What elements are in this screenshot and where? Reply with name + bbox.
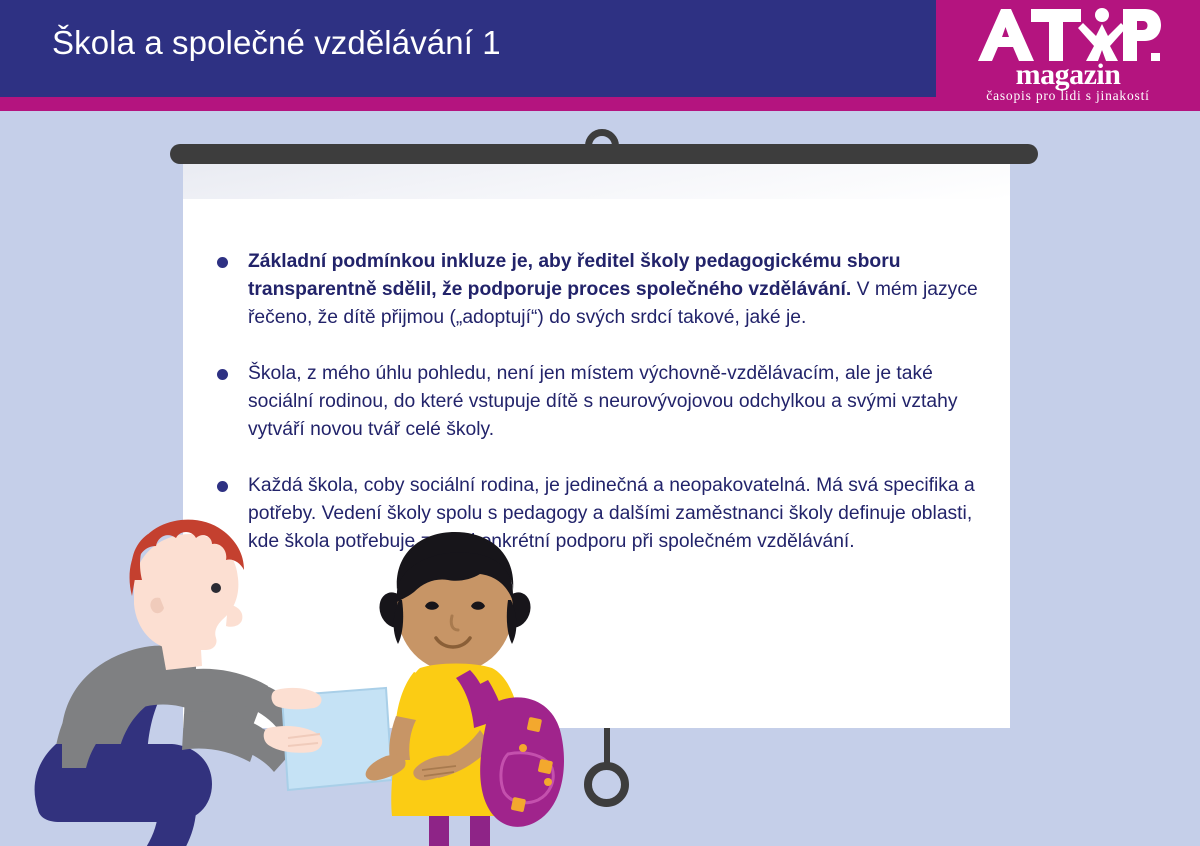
- girl-arm-right: [438, 730, 492, 778]
- atyp-magazin-logo: magazin časopis pro lidi s jinakostí: [936, 4, 1200, 111]
- pants-front-leg: [128, 754, 196, 846]
- backpack-buckle-3: [511, 797, 526, 812]
- logo-wordmark-atyp: [936, 6, 1200, 62]
- atyp-wordmark-icon: [975, 6, 1161, 62]
- projector-screen-bar: [170, 144, 1038, 164]
- backpack-buckle-2: [538, 759, 553, 774]
- girl-hand-left: [366, 754, 406, 781]
- header-accent-stripe: [0, 97, 936, 111]
- backpack-pocket: [501, 753, 553, 803]
- bullet-dot-icon: [217, 257, 228, 268]
- bullet-text-rest: Škola, z mého úhlu pohledu, není jen mís…: [248, 363, 958, 440]
- header-bar: Škola a společné vzdělávání 1: [0, 0, 936, 97]
- screen-top-shadow: [183, 163, 1010, 199]
- legging-right: [470, 810, 490, 846]
- girl-hand-right: [413, 756, 459, 781]
- legging-left: [429, 810, 449, 846]
- page-title: Škola a společné vzdělávání 1: [52, 24, 501, 62]
- list-item: Základní podmínkou inkluze je, aby ředit…: [215, 248, 990, 332]
- bullet-text-bold: Základní podmínkou inkluze je, aby ředit…: [248, 251, 901, 300]
- adult-hand-lower: [264, 726, 323, 753]
- bullet-list: Základní podmínkou inkluze je, aby ředit…: [215, 248, 990, 556]
- pull-cord-ring-icon[interactable]: [584, 762, 629, 807]
- pants-seat: [35, 744, 212, 822]
- logo-subtitle: magazin: [936, 60, 1200, 90]
- logo-panel: magazin časopis pro lidi s jinakostí: [936, 0, 1200, 111]
- bullet-dot-icon: [217, 481, 228, 492]
- shoe-back: [92, 782, 169, 804]
- poster-page: Škola a společné vzdělávání 1 magaz: [0, 0, 1200, 846]
- logo-tagline: časopis pro lidi s jinakostí: [936, 88, 1200, 104]
- bullet-text-rest: Každá škola, coby sociální rodina, je je…: [248, 475, 975, 552]
- list-item: Škola, z mého úhlu pohledu, není jen mís…: [215, 360, 990, 444]
- bullet-dot-icon: [217, 369, 228, 380]
- list-item: Každá škola, coby sociální rodina, je je…: [215, 472, 990, 556]
